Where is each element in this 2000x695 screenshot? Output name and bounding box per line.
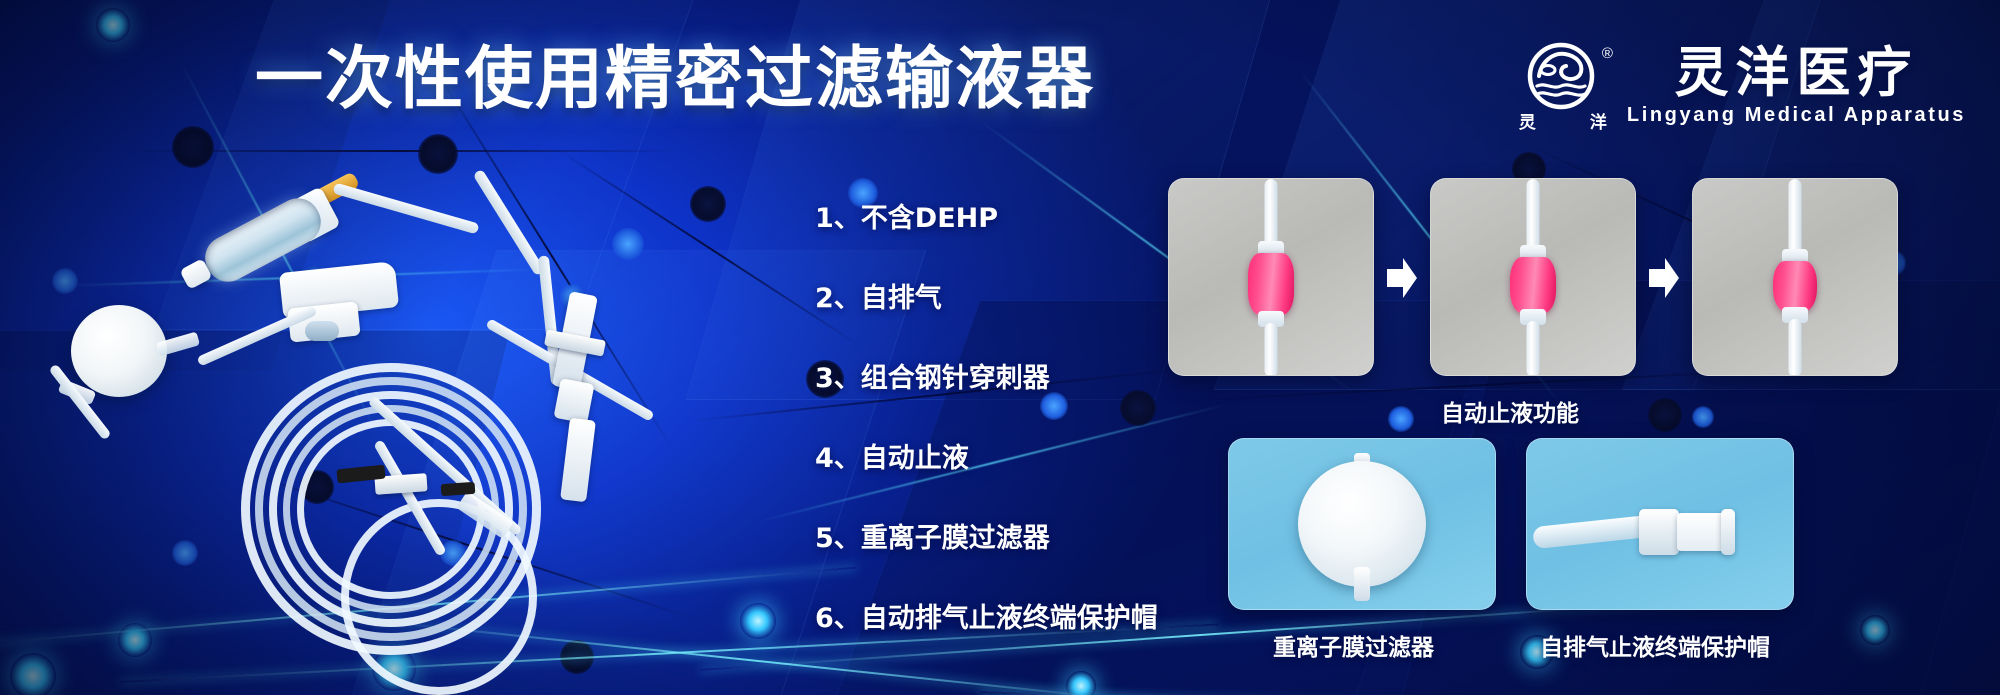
sequence-arrow-icon-2 (1647, 256, 1681, 300)
brand-name-en: Lingyang Medical Apparatus (1627, 104, 1966, 127)
brand-logo: ® 灵 洋 灵洋医疗 Lingyang Medical Apparatus (1517, 40, 1966, 132)
filter-panel-photo (1228, 438, 1496, 610)
page-title: 一次性使用精密过滤输液器 (255, 46, 1095, 114)
cap-panel-photo (1526, 438, 1794, 610)
caption-filter: 重离子膜过滤器 (1273, 628, 1434, 662)
logo-char-yang: 洋 (1590, 108, 1607, 133)
inline-filter-disc (71, 305, 167, 397)
feature-item: 5、重离子膜过滤器 (815, 525, 1235, 552)
logo-char-ling: 灵 (1519, 108, 1536, 133)
registered-trademark-icon: ® (1602, 46, 1613, 61)
caption-cap: 自排气止液终端保护帽 (1540, 628, 1770, 662)
auto-stop-frame-2 (1430, 178, 1636, 376)
terminal-protector-cap (560, 418, 596, 503)
sequence-arrow-icon-1 (1385, 256, 1419, 300)
caption-auto-stop: 自动止液功能 (1441, 394, 1579, 428)
product-photo (45, 175, 805, 675)
banner-root: 一次性使用精密过滤输液器 ® 灵 洋 灵洋医疗 Lingyang Medical… (0, 0, 2000, 695)
brand-name-cn: 灵洋医疗 (1674, 45, 1918, 102)
feature-item: 6、自动排气止液终端保护帽 (815, 605, 1235, 632)
feature-item: 4、自动止液 (815, 445, 1235, 472)
logo-emblem-icon: ® 灵 洋 (1517, 40, 1609, 132)
auto-stop-frame-3 (1692, 178, 1898, 376)
auto-stop-frame-1 (1168, 178, 1374, 376)
